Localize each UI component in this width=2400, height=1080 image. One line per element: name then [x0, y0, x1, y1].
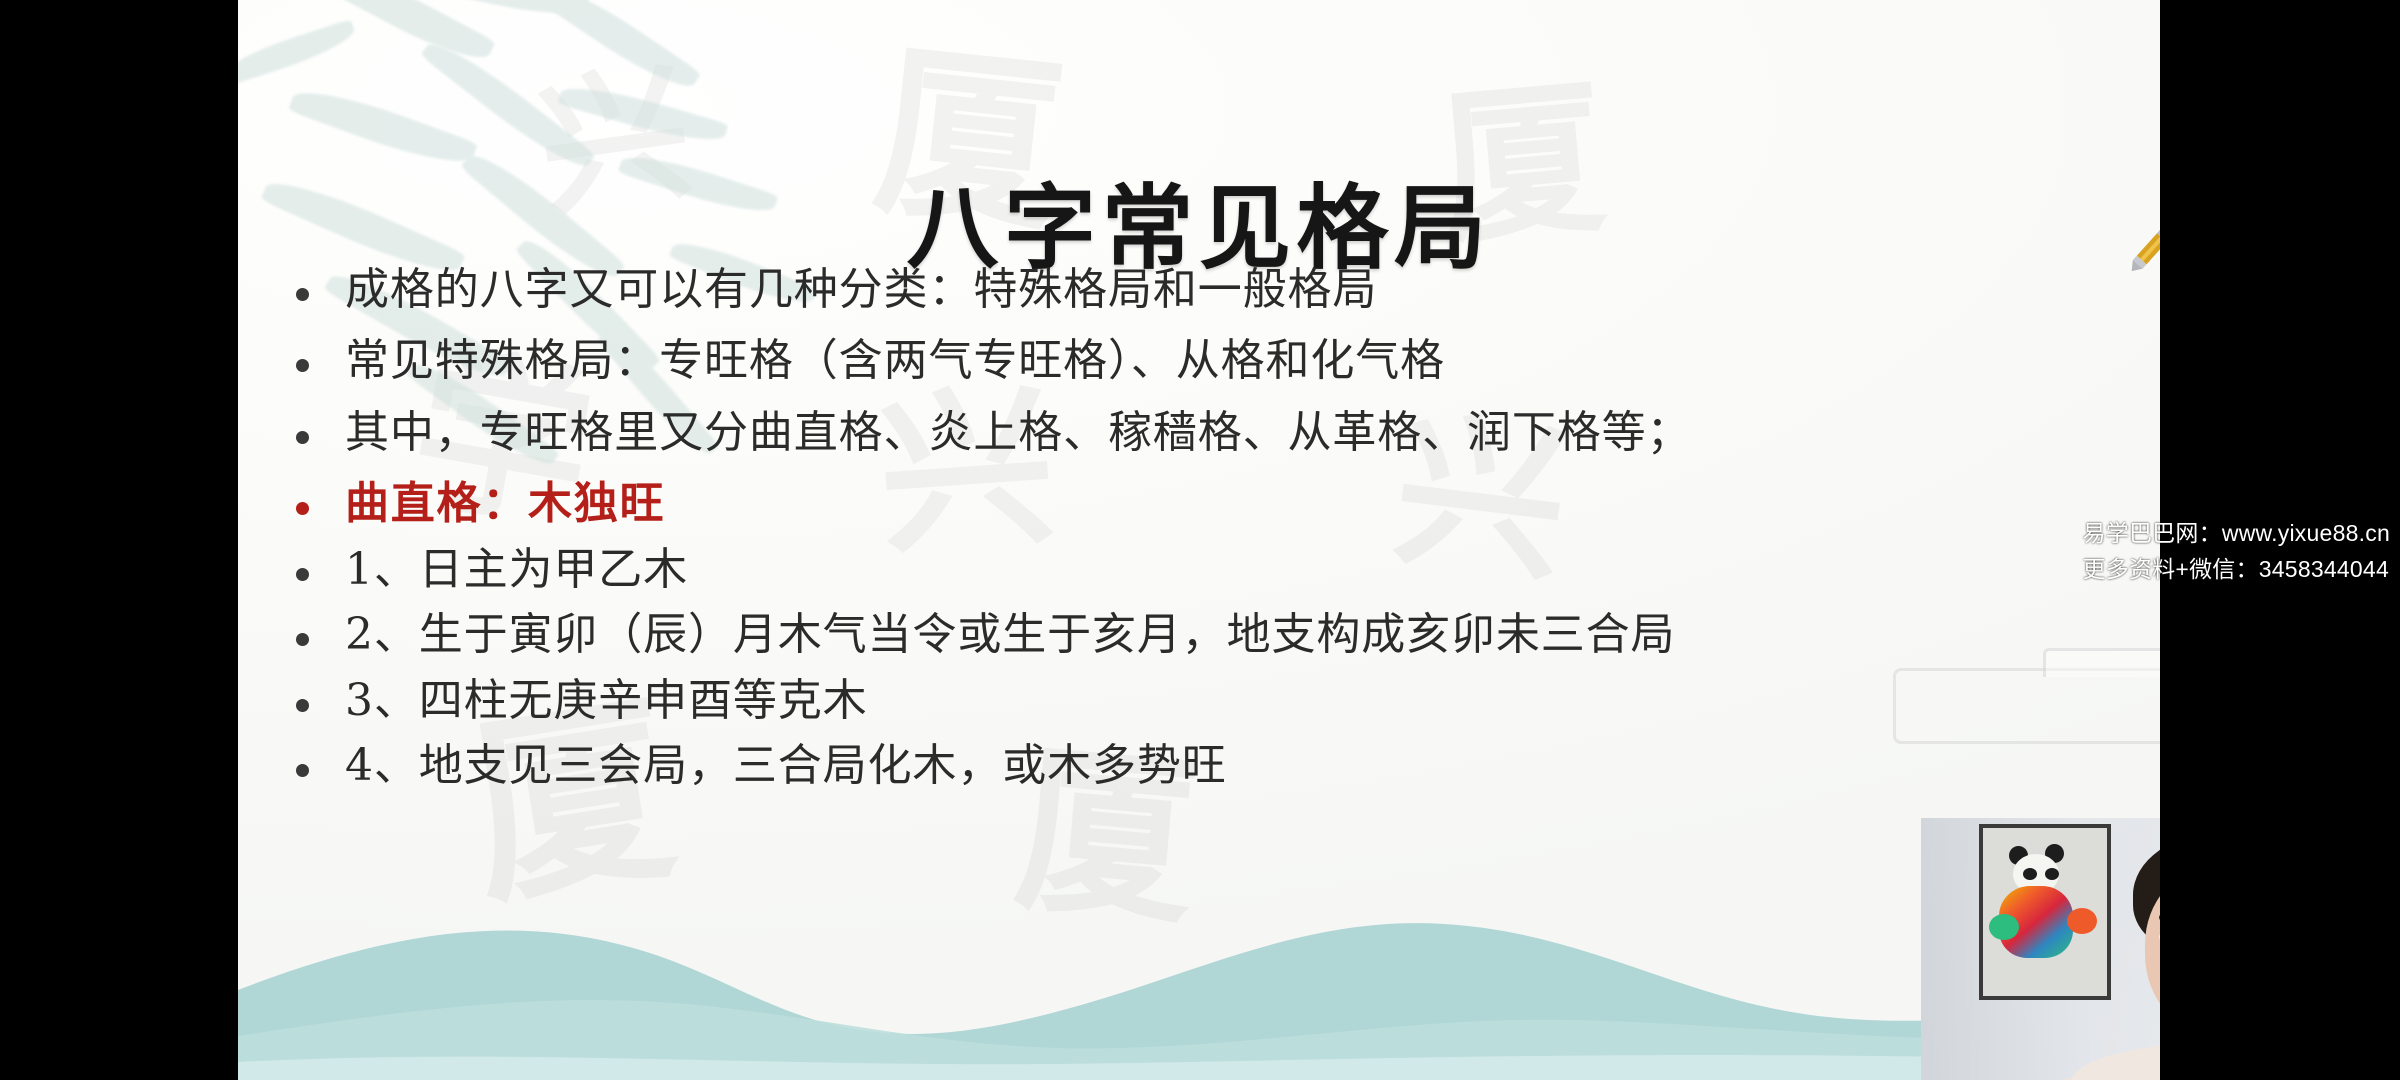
bullet-item-highlight: 曲直格：木独旺: [262, 476, 2150, 531]
bullet-dot-icon: [296, 699, 309, 712]
slide-bullet-list: 成格的八字又可以有几种分类：特殊格局和一般格局 常见特殊格局：专旺格（含两气专旺…: [262, 262, 2150, 804]
bullet-item: 成格的八字又可以有几种分类：特殊格局和一般格局: [262, 262, 2150, 317]
bullet-text: 3、四柱无庚辛申酉等克木: [345, 673, 868, 728]
presentation-slide: 兴 厦 厦 学 兴 兴 厦 厦 八字常见格局: [238, 0, 2160, 1080]
site-watermark: 易学巴巴网：www.yixue88.cn 更多资料+微信：3458344044: [2082, 516, 2390, 587]
bullet-item: 2、生于寅卯（辰）月木气当令或生于亥月，地支构成亥卯未三合局: [262, 607, 2150, 662]
faint-overlay-tab: [2043, 648, 2160, 677]
faint-overlay-box: [1893, 668, 2160, 744]
bullet-text: 曲直格：木独旺: [345, 476, 665, 531]
bullet-text: 1、日主为甲乙木: [345, 542, 688, 597]
bullet-text: 常见特殊格局：专旺格（含两气专旺格）、从格和化气格: [345, 333, 1445, 388]
watermark-wechat-line: 更多资料+微信：3458344044: [2082, 552, 2390, 588]
panda-poster-frame: [1979, 824, 2111, 1000]
bullet-dot-icon: [296, 568, 309, 581]
bullet-dot-icon: [296, 502, 309, 515]
bullet-text: 其中，专旺格里又分曲直格、炎上格、稼穑格、从革格、润下格等；: [345, 405, 1691, 460]
bullet-dot-icon: [296, 764, 309, 777]
bullet-item: 常见特殊格局：专旺格（含两气专旺格）、从格和化气格: [262, 333, 2150, 388]
bullet-text: 2、生于寅卯（辰）月木气当令或生于亥月，地支构成亥卯未三合局: [345, 607, 1675, 662]
bullet-dot-icon: [296, 431, 309, 444]
bullet-item: 1、日主为甲乙木: [262, 542, 2150, 597]
presenter-webcam-video[interactable]: [1921, 818, 2160, 1080]
pencil-icon[interactable]: [2118, 218, 2160, 282]
bullet-item: 3、四柱无庚辛申酉等克木: [262, 673, 2150, 728]
bullet-text: 成格的八字又可以有几种分类：特殊格局和一般格局: [345, 262, 1377, 317]
bullet-item: 其中，专旺格里又分曲直格、炎上格、稼穑格、从革格、润下格等；: [262, 405, 2150, 460]
bullet-text: 4、地支见三会局，三合局化木，或木多势旺: [345, 738, 1227, 793]
video-player-stage: 兴 厦 厦 学 兴 兴 厦 厦 八字常见格局: [0, 0, 2400, 1080]
bullet-dot-icon: [296, 288, 309, 301]
bullet-item: 4、地支见三会局，三合局化木，或木多势旺: [262, 738, 2150, 793]
watermark-site-line: 易学巴巴网：www.yixue88.cn: [2082, 516, 2390, 552]
bullet-dot-icon: [296, 359, 309, 372]
bullet-dot-icon: [296, 633, 309, 646]
